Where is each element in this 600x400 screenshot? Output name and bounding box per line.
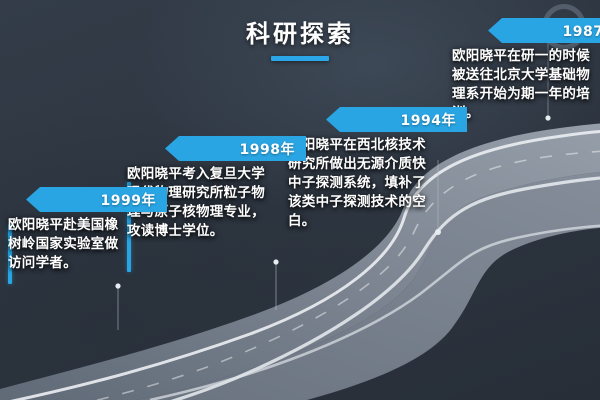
slide-canvas: 科研探索 1987年 欧阳晓平在研一的时候被送往北京大学基础物理系开始为期一年的… [0,0,600,400]
card-text-1987: 欧阳晓平在研一的时候被送往北京大学基础物理系开始为期一年的培训。 [452,47,592,123]
timeline-card-1994[interactable]: 1994年 欧阳晓平在西北核技术研究所做出无源介质快中子探测系统，填补了该类中子… [288,107,430,231]
year-banner-1998: 1998年 [165,136,306,161]
year-label-1999: 1999年 [101,190,156,210]
year-banner-1987: 1987年 [488,18,600,43]
year-banner-1999: 1999年 [26,187,167,212]
year-label-1994: 1994年 [401,110,456,130]
year-label-1998: 1998年 [240,139,295,159]
year-banner-1994: 1994年 [326,107,467,132]
year-label-1987: 1987年 [563,21,600,41]
card-text-1994: 欧阳晓平在西北核技术研究所做出无源介质快中子探测系统，填补了该类中子探测技术的空… [288,136,430,231]
title-underline [271,56,329,61]
timeline-card-1987[interactable]: 1987年 欧阳晓平在研一的时候被送往北京大学基础物理系开始为期一年的培训。 [452,18,592,123]
timeline-card-1999[interactable]: 1999年 欧阳晓平赴美国橡树岭国家实验室做访问学者。 [8,187,132,273]
card-text-1999: 欧阳晓平赴美国橡树岭国家实验室做访问学者。 [8,216,132,273]
